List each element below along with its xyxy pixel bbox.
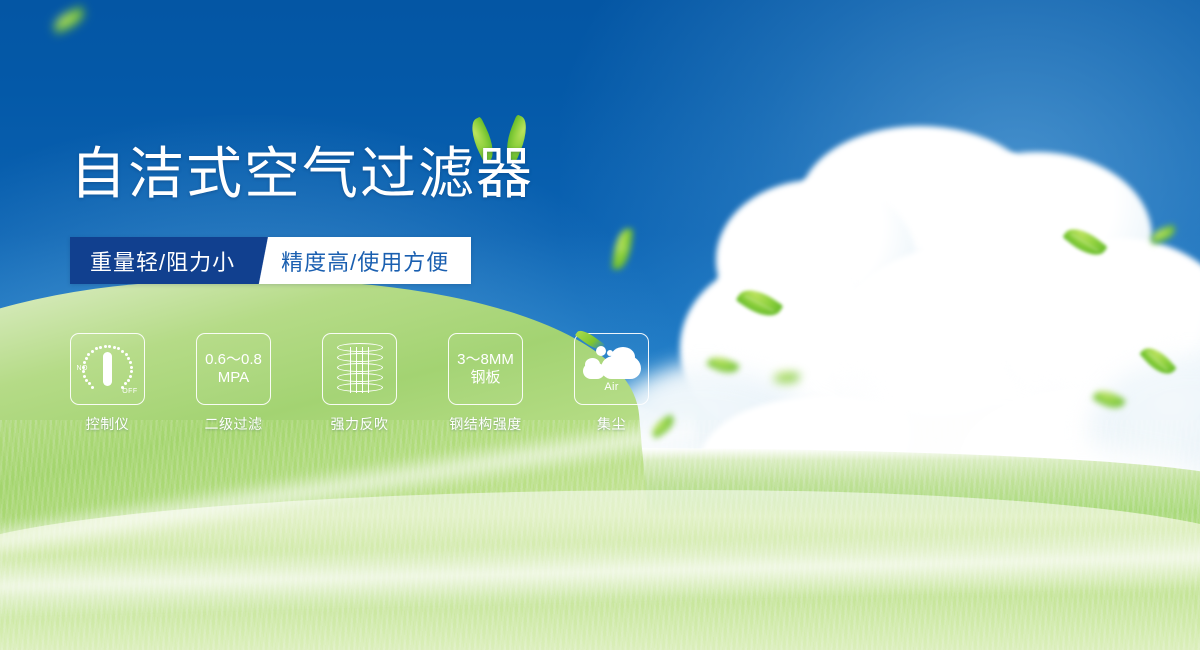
- feature-icon-box: 0.6～0.8 MPA: [196, 333, 271, 405]
- grass-texture-overlay: [0, 420, 1200, 650]
- dust-cloud-icon: [583, 345, 641, 379]
- feature-list: NO OFF 控制仪 0.6～0.8 MPA 二级过滤: [70, 333, 649, 434]
- feature-icon-box: [322, 333, 397, 405]
- promo-banner: 自洁式空气过滤器 重量轻/阻力小 精度高/使用方便 NO OFF 控制仪 0.6…: [0, 0, 1200, 650]
- feature-icon-box: Air: [574, 333, 649, 405]
- feature-item-controller[interactable]: NO OFF 控制仪: [70, 333, 145, 434]
- page-title: 自洁式空气过滤器: [70, 146, 534, 202]
- feature-icon-box: 3～8MM 钢板: [448, 333, 523, 405]
- feature-item-dust-collection[interactable]: Air 集尘: [574, 333, 649, 434]
- feature-item-steel-strength[interactable]: 3～8MM 钢板 钢结构强度: [448, 333, 523, 434]
- feature-label: 钢结构强度: [449, 414, 522, 434]
- feature-icon-box: NO OFF: [70, 333, 145, 405]
- steel-plate-text-icon: 3～8MM 钢板: [457, 351, 514, 388]
- feature-label: 控制仪: [86, 414, 130, 434]
- subtitle-banner: 重量轻/阻力小 精度高/使用方便: [70, 237, 471, 284]
- feature-item-two-stage-filter[interactable]: 0.6～0.8 MPA 二级过滤: [196, 333, 271, 434]
- feature-item-back-blow[interactable]: 强力反吹: [322, 333, 397, 434]
- pressure-text-icon: 0.6～0.8 MPA: [205, 351, 262, 388]
- pressure-unit: MPA: [205, 369, 262, 387]
- steel-material: 钢板: [457, 369, 514, 387]
- subtitle-divider: [253, 237, 275, 284]
- feature-label: 集尘: [597, 414, 626, 434]
- air-label: Air: [604, 381, 618, 393]
- steel-thickness: 3～8MM: [457, 351, 514, 368]
- subtitle-right-text: 精度高/使用方便: [275, 237, 471, 284]
- subtitle-left-text: 重量轻/阻力小: [70, 237, 253, 284]
- filter-stack-icon: [337, 343, 383, 395]
- feature-label: 二级过滤: [205, 414, 263, 434]
- feature-label: 强力反吹: [331, 414, 389, 434]
- gauge-max-label: OFF: [122, 388, 137, 395]
- gauge-icon: NO OFF: [78, 341, 138, 397]
- pressure-value: 0.6～0.8: [205, 351, 262, 368]
